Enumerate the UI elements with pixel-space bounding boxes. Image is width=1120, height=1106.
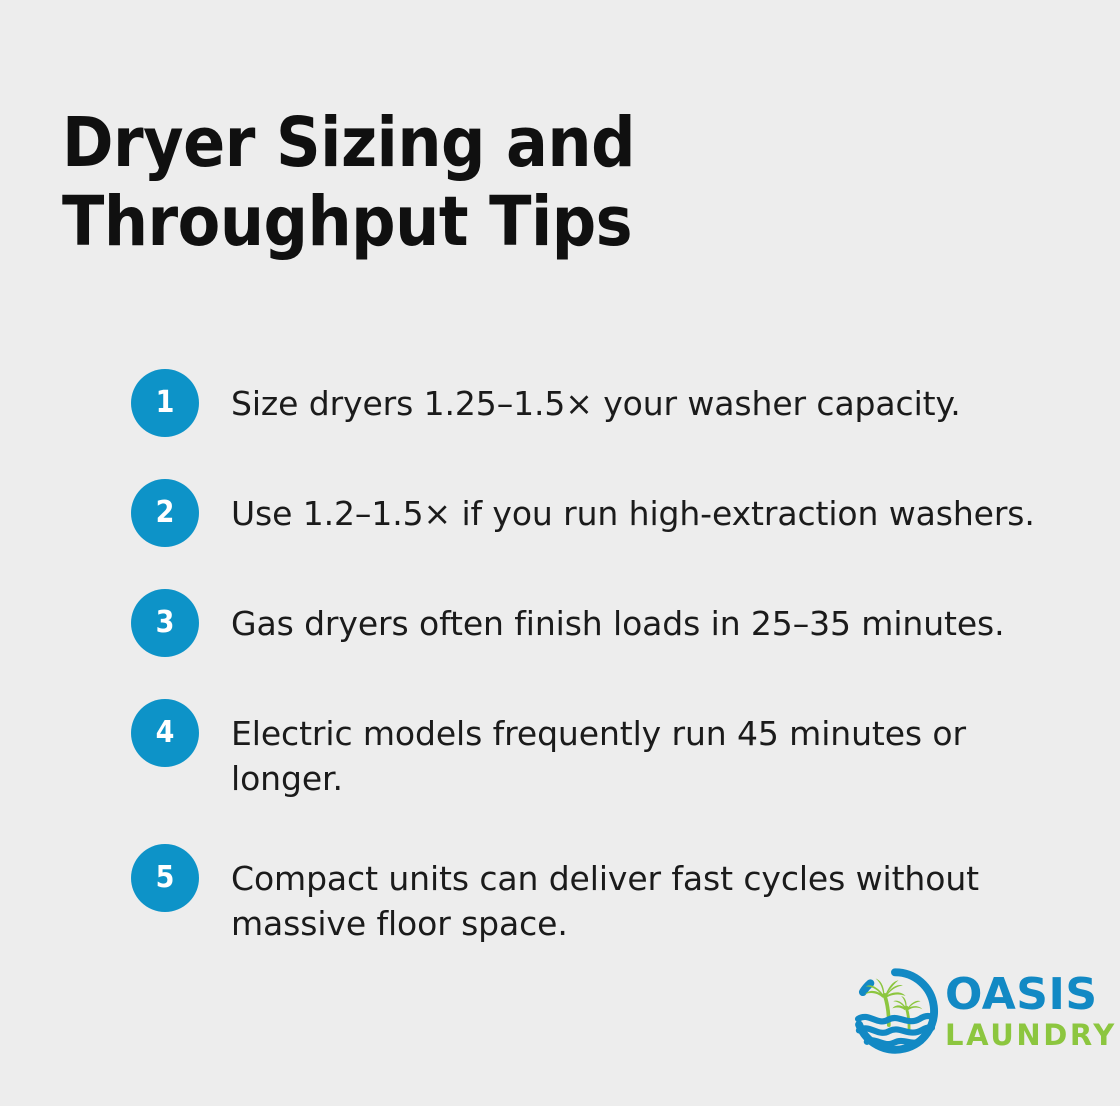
brand-logo: OASIS LAUNDRY bbox=[851, 963, 1065, 1059]
tip-number-badge: 4 bbox=[131, 699, 199, 767]
tip-number-badge: 5 bbox=[131, 844, 199, 912]
infographic-card: Dryer Sizing and Throughput Tips 1 Size … bbox=[0, 0, 1120, 1106]
tip-text: Use 1.2–1.5× if you run high-extraction … bbox=[231, 479, 1061, 537]
brand-name: OASIS bbox=[945, 973, 1117, 1017]
tip-number-badge: 3 bbox=[131, 589, 199, 657]
oasis-emblem-icon bbox=[851, 967, 939, 1055]
list-item: 2 Use 1.2–1.5× if you run high-extractio… bbox=[131, 479, 1061, 547]
brand-subtitle: LAUNDRY bbox=[945, 1021, 1117, 1050]
list-item: 5 Compact units can deliver fast cycles … bbox=[131, 844, 1061, 947]
list-item: 1 Size dryers 1.25–1.5× your washer capa… bbox=[131, 369, 1061, 437]
tip-text: Gas dryers often finish loads in 25–35 m… bbox=[231, 589, 1061, 647]
tip-text: Electric models frequently run 45 minute… bbox=[231, 699, 1061, 802]
tip-text: Compact units can deliver fast cycles wi… bbox=[231, 844, 1061, 947]
page-title: Dryer Sizing and Throughput Tips bbox=[62, 104, 992, 261]
tip-number-badge: 1 bbox=[131, 369, 199, 437]
tip-number-badge: 2 bbox=[131, 479, 199, 547]
brand-wordmark: OASIS LAUNDRY bbox=[945, 973, 1117, 1050]
tips-list: 1 Size dryers 1.25–1.5× your washer capa… bbox=[131, 369, 1061, 947]
list-item: 4 Electric models frequently run 45 minu… bbox=[131, 699, 1061, 802]
list-item: 3 Gas dryers often finish loads in 25–35… bbox=[131, 589, 1061, 657]
tip-text: Size dryers 1.25–1.5× your washer capaci… bbox=[231, 369, 1061, 427]
